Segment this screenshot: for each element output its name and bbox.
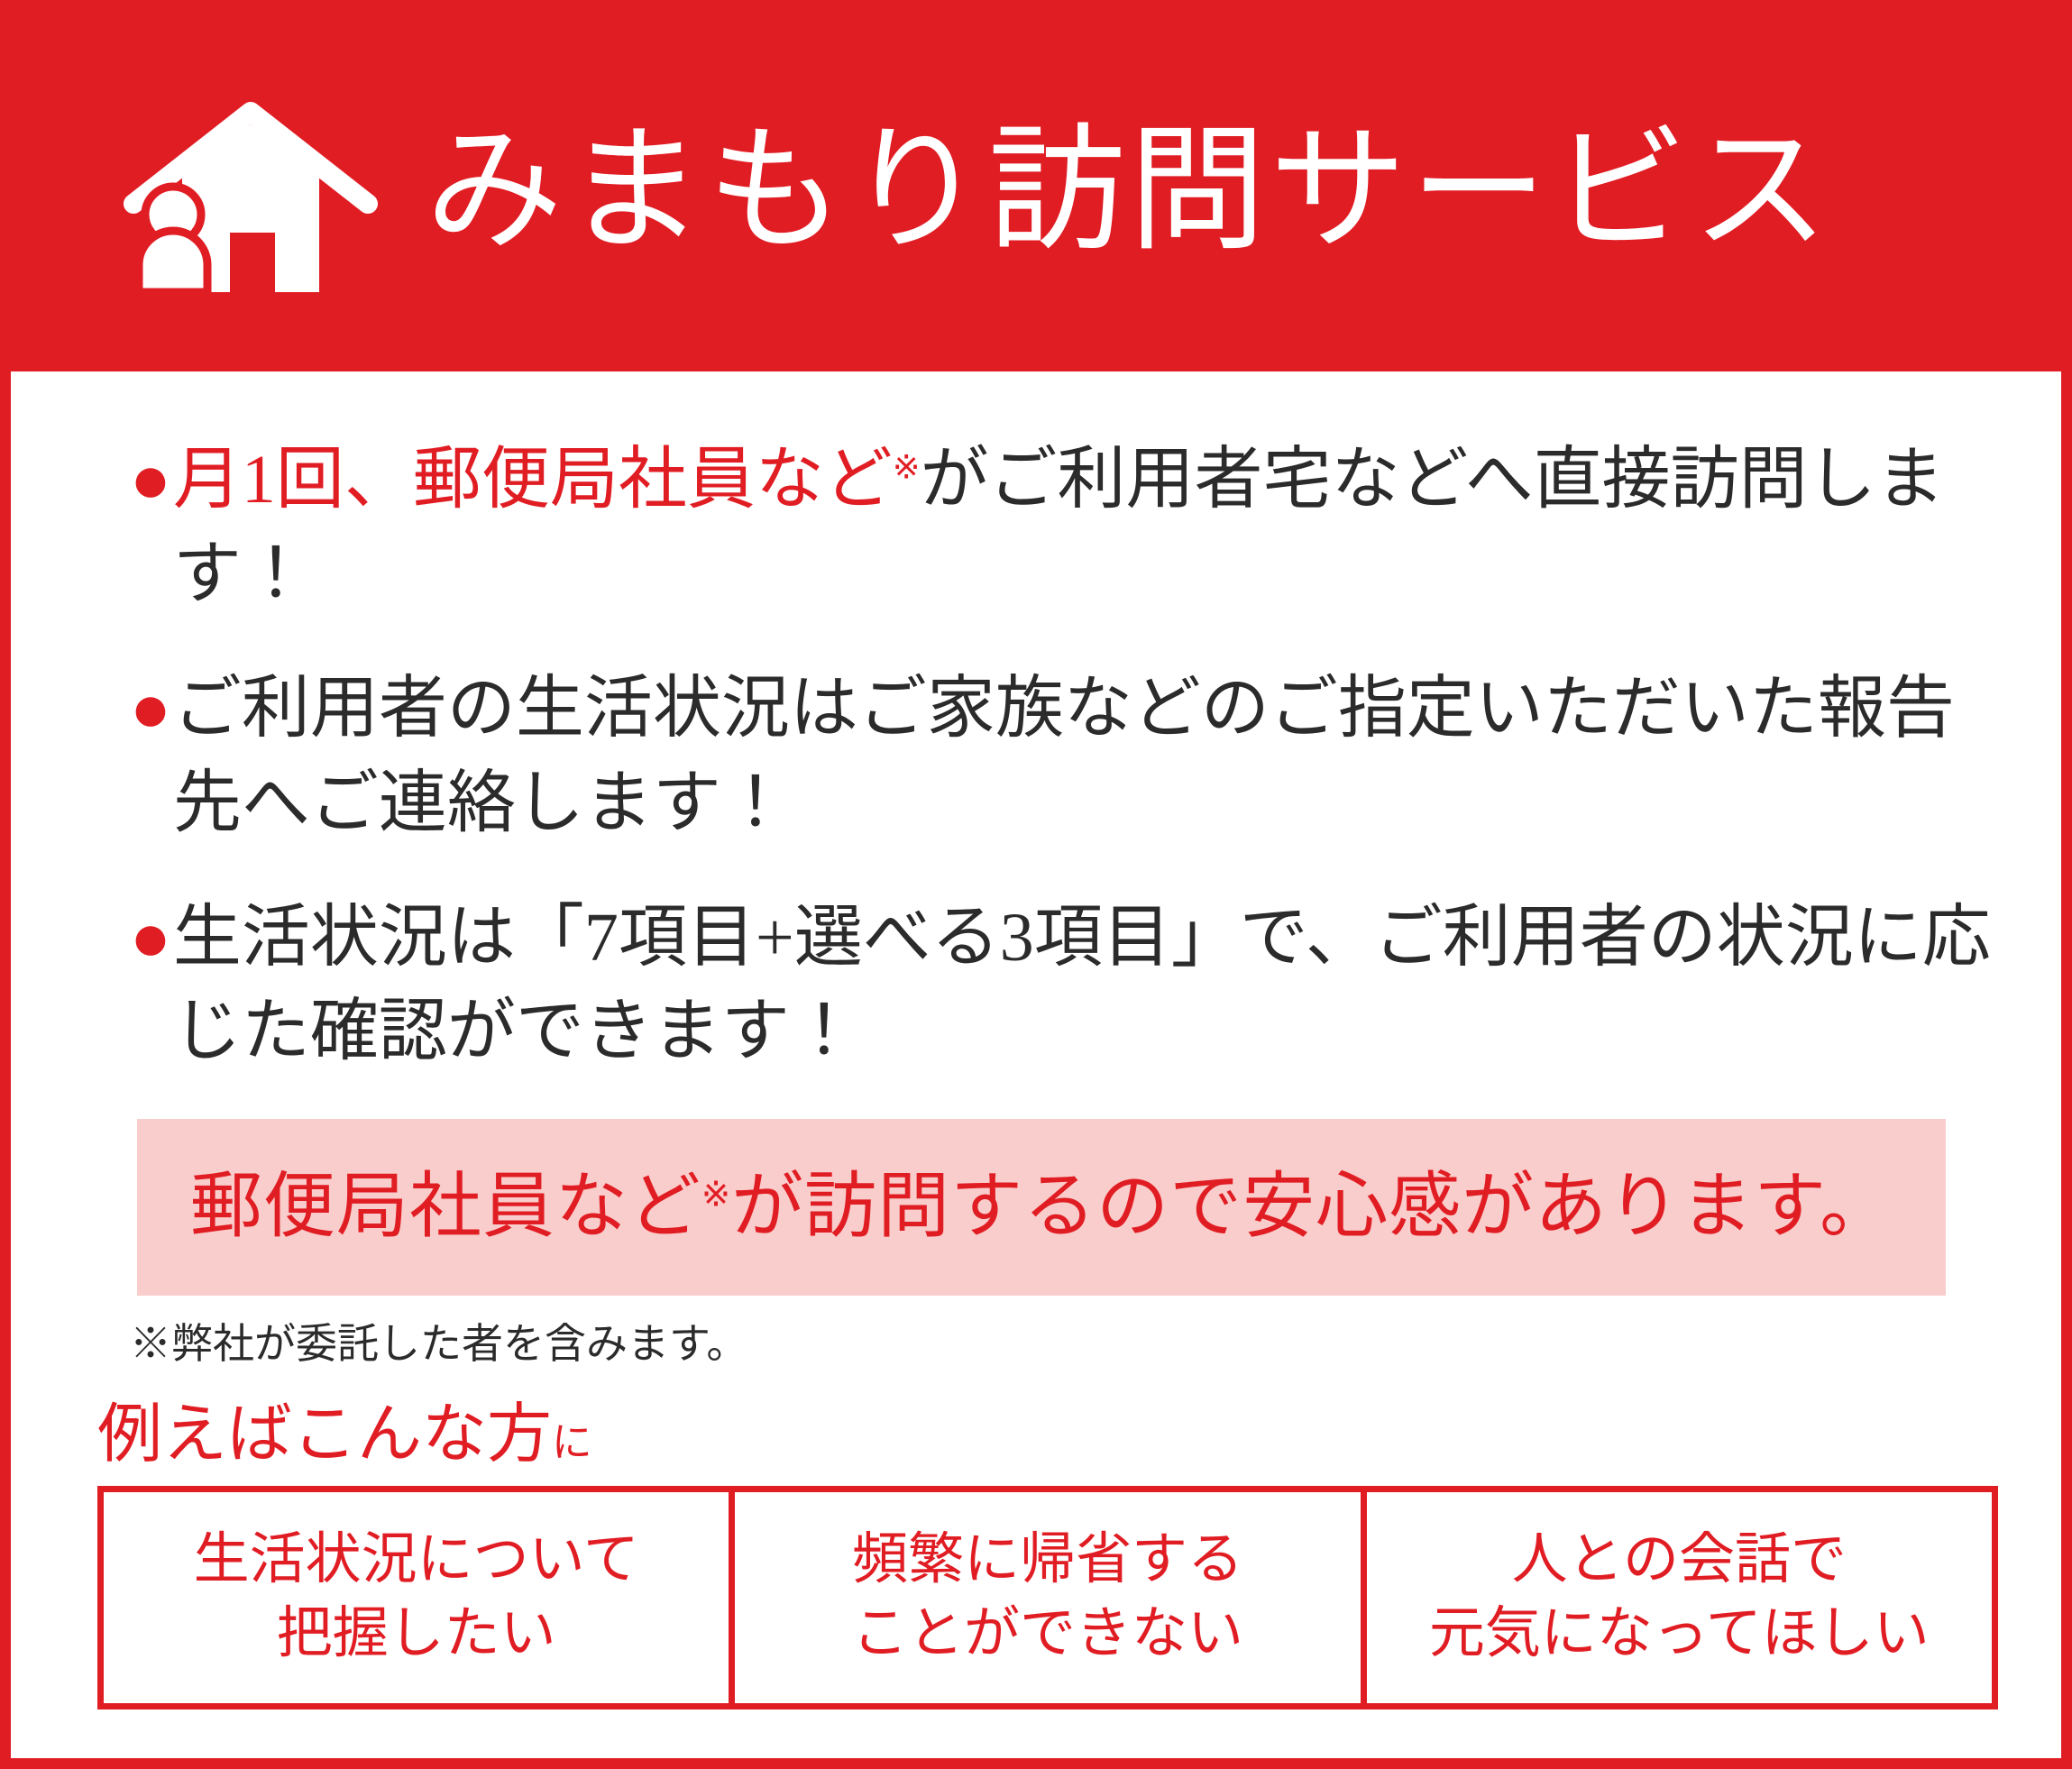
footnote: ※弊社が委託した者を含みます。 (130, 1319, 2061, 1369)
callout-text-after: が訪問するので安心感があります。 (731, 1168, 1893, 1247)
callout-text: 郵便局社員など※が訪問するので安心感があります。 (190, 1171, 1893, 1243)
example-box-1: 生活状況について 把握したい (104, 1492, 735, 1703)
feature-list: ● 月1回、郵便局社員など※がご利用者宅などへ直接訪問します！ ● ご利用者の生… (11, 433, 2061, 1079)
example-box-3-line1: 人との会話で (1512, 1524, 1847, 1598)
list-item: ● 月1回、郵便局社員など※がご利用者宅などへ直接訪問します！ (130, 433, 1998, 622)
bullet-dot-icon: ● (130, 433, 171, 527)
feature-red-text: 月1回、郵便局社員など (173, 442, 893, 518)
example-box-2-line2: ことができない (852, 1598, 1243, 1672)
reference-mark-icon: ※ (893, 449, 921, 486)
callout-text-before: 郵便局社員など (190, 1168, 701, 1247)
bullet-dot-icon: ● (130, 662, 171, 756)
example-box-1-line1: 生活状況について (194, 1524, 639, 1598)
list-item: ● 生活状況は「7項目+選べる3項目」で、ご利用者の状況に応じた確認ができます！ (130, 891, 1998, 1080)
house-with-person-icon (117, 96, 388, 303)
feature-text-1: 月1回、郵便局社員など※がご利用者宅などへ直接訪問します！ (173, 433, 1998, 622)
example-box-1-line2: 把握したい (277, 1598, 556, 1672)
reassurance-callout: 郵便局社員など※が訪問するので安心感があります。 (137, 1119, 1946, 1296)
example-section-heading: 例えばこんな方に (97, 1399, 2061, 1471)
feature-text-3: 生活状況は「7項目+選べる3項目」で、ご利用者の状況に応じた確認ができます！ (173, 891, 1998, 1080)
list-item: ● ご利用者の生活状況はご家族などのご指定いただいた報告先へご連絡します！ (130, 662, 1998, 851)
content-area: ● 月1回、郵便局社員など※がご利用者宅などへ直接訪問します！ ● ご利用者の生… (11, 371, 2061, 1709)
bullet-dot-icon: ● (130, 891, 171, 985)
example-boxes-group: 生活状況について 把握したい 頻繁に帰省する ことができない 人との会話で 元気… (97, 1486, 1998, 1709)
example-heading-suffix: に (552, 1420, 592, 1465)
header-banner: みまもり訪問サービス (11, 11, 2061, 371)
mimamori-service-flyer: みまもり訪問サービス ● 月1回、郵便局社員など※がご利用者宅などへ直接訪問しま… (0, 0, 2072, 1769)
example-box-2: 頻繁に帰省する ことができない (735, 1492, 1366, 1703)
reference-mark-icon: ※ (701, 1177, 731, 1214)
example-box-2-line1: 頻繁に帰省する (852, 1524, 1243, 1598)
example-box-3-line2: 元気になってほしい (1429, 1598, 1930, 1672)
example-heading-main: 例えばこんな方 (97, 1398, 552, 1471)
example-box-3: 人との会話で 元気になってほしい (1367, 1492, 1992, 1703)
feature-text-2: ご利用者の生活状況はご家族などのご指定いただいた報告先へご連絡します！ (173, 662, 1998, 851)
page-title: みまもり訪問サービス (426, 123, 1832, 260)
